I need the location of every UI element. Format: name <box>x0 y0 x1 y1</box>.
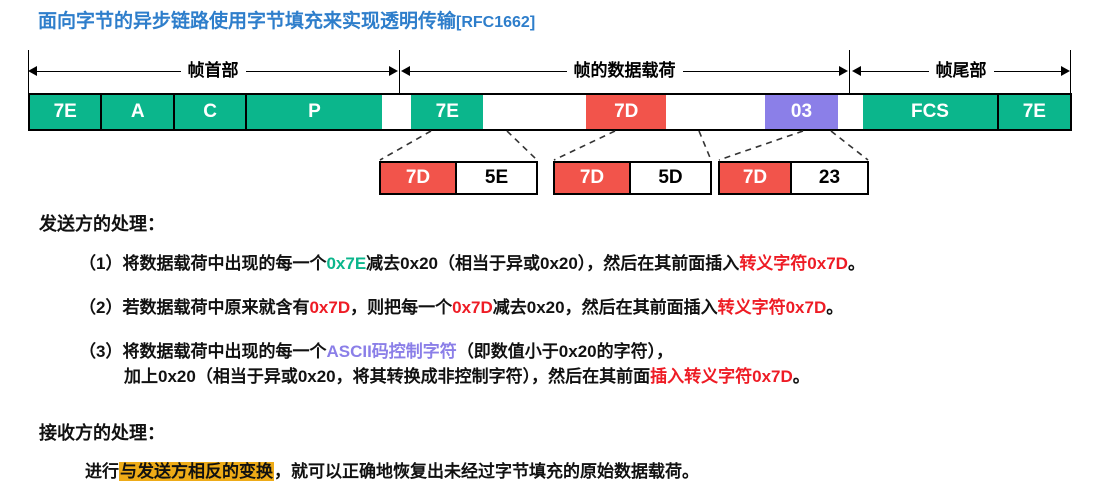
arrow-left-icon <box>28 66 37 76</box>
sender-rule-2: （2）若数据载荷中原来就含有0x7D，则把每一个0x7D减去0x20，然后在其前… <box>79 297 843 318</box>
frame-cell-payload-7d: 7D <box>586 95 666 129</box>
frame-cell-gap <box>666 95 765 129</box>
region-label-frame-trailer: 帧尾部 <box>852 58 1070 84</box>
rule-text: （即数值小于0x20的字符）， <box>457 342 673 361</box>
rule-token-ascii-control: ASCII码控制字符 <box>326 342 456 361</box>
frame-cell-flag-start: 7E <box>30 95 102 129</box>
frame-cell-flag-end: 7E <box>999 95 1070 129</box>
rule-token-escape: 转义字符0x7D <box>739 254 848 273</box>
frame-cell-payload-03: 03 <box>765 95 837 129</box>
arrow-line <box>861 71 929 72</box>
receiver-line: 进行与发送方相反的变换，就可以正确地恢复出未经过字节填充的原始数据载荷。 <box>85 461 699 482</box>
region-label-frame-payload: 帧的数据载荷 <box>401 58 848 84</box>
receiver-highlight: 与发送方相反的变换 <box>119 462 274 481</box>
arrow-right-icon <box>1061 66 1070 76</box>
arrow-line <box>246 71 390 72</box>
expansion-escape-byte: 7D <box>720 163 792 193</box>
rule-token-7d: 0x7D <box>452 298 493 317</box>
rule-text: 减去0x20（相当于异或0x20），然后在其前面插入 <box>366 254 739 273</box>
expansion-box-7e: 7D 5E <box>379 161 538 195</box>
receiver-text-pre: 进行 <box>85 462 119 481</box>
arrow-right-icon <box>839 66 848 76</box>
frame-strip: 7E A C P 7E 7D 03 FCS 7E <box>28 93 1072 131</box>
sender-rule-3: （3）将数据载荷中出现的每一个ASCII码控制字符（即数值小于0x20的字符）， <box>79 341 673 362</box>
rule-text: 。 <box>793 367 810 386</box>
region-label-text: 帧首部 <box>181 62 246 79</box>
frame-cell-payload-7e: 7E <box>411 95 483 129</box>
arrow-line <box>683 71 840 72</box>
rule-text: 。 <box>826 298 843 317</box>
rule-number: （1） <box>79 254 122 273</box>
frame-cell-control: C <box>175 95 247 129</box>
page-title: 面向字节的异步链路使用字节填充来实现透明传输[RFC1662] <box>38 6 535 33</box>
receiver-text-post: ，就可以正确地恢复出未经过字节填充的原始数据载荷。 <box>274 462 699 481</box>
sender-heading: 发送方的处理： <box>39 210 165 236</box>
rule-text: 将数据载荷中出现的每一个 <box>122 254 326 273</box>
rule-token-escape: 转义字符0x7D <box>718 298 827 317</box>
rule-token-7e: 0x7E <box>326 254 366 273</box>
region-boundary-tick <box>399 50 400 93</box>
arrow-right-icon <box>389 66 398 76</box>
expansion-value-byte: 5E <box>457 163 536 193</box>
expansion-connectors <box>0 128 1105 162</box>
region-label-text: 帧尾部 <box>929 62 994 79</box>
rule-text: 将数据载荷中出现的每一个 <box>122 342 326 361</box>
rule-number: （3） <box>79 342 122 361</box>
region-label-text: 帧的数据载荷 <box>567 62 683 79</box>
frame-cell-gap <box>382 95 412 129</box>
rule-text: 。 <box>848 254 865 273</box>
region-label-frame-header: 帧首部 <box>28 58 398 84</box>
frame-cell-protocol: P <box>247 95 381 129</box>
rule-number: （2） <box>79 298 122 317</box>
receiver-heading: 接收方的处理： <box>39 419 165 445</box>
frame-cell-fcs: FCS <box>863 95 998 129</box>
rule-text: 加上0x20（相当于异或0x20，将其转换成非控制字符），然后在其前面 <box>124 367 650 386</box>
rule-text: ，则把每一个 <box>350 298 452 317</box>
rule-token-7d: 0x7D <box>309 298 350 317</box>
page-title-main: 面向字节的异步链路使用字节填充来实现透明传输 <box>38 11 456 32</box>
frame-cell-address: A <box>102 95 174 129</box>
arrow-left-icon <box>852 66 861 76</box>
expansion-value-byte: 5D <box>631 163 710 193</box>
rule-text: 减去0x20，然后在其前面插入 <box>493 298 718 317</box>
expansion-box-03: 7D 23 <box>718 161 869 195</box>
expansion-escape-byte: 7D <box>555 163 631 193</box>
region-boundary-tick <box>1070 50 1071 93</box>
sender-rule-1: （1）将数据载荷中出现的每一个0x7E减去0x20（相当于异或0x20），然后在… <box>79 253 865 274</box>
rule-text: 若数据载荷中原来就含有 <box>122 298 309 317</box>
arrow-line <box>37 71 181 72</box>
region-boundary-tick <box>28 50 29 93</box>
frame-cell-gap <box>838 95 864 129</box>
arrow-line <box>994 71 1062 72</box>
expansion-box-7d: 7D 5D <box>553 161 712 195</box>
expansion-escape-byte: 7D <box>381 163 457 193</box>
frame-cell-gap <box>483 95 586 129</box>
arrow-line <box>410 71 567 72</box>
sender-rule-3-continued: 加上0x20（相当于异或0x20，将其转换成非控制字符），然后在其前面插入转义字… <box>124 366 810 387</box>
page-title-rfc: [RFC1662] <box>456 14 535 31</box>
rule-token-insert-escape: 插入转义字符0x7D <box>650 367 793 386</box>
region-boundary-tick <box>849 50 850 93</box>
expansion-value-byte: 23 <box>792 163 867 193</box>
arrow-left-icon <box>401 66 410 76</box>
